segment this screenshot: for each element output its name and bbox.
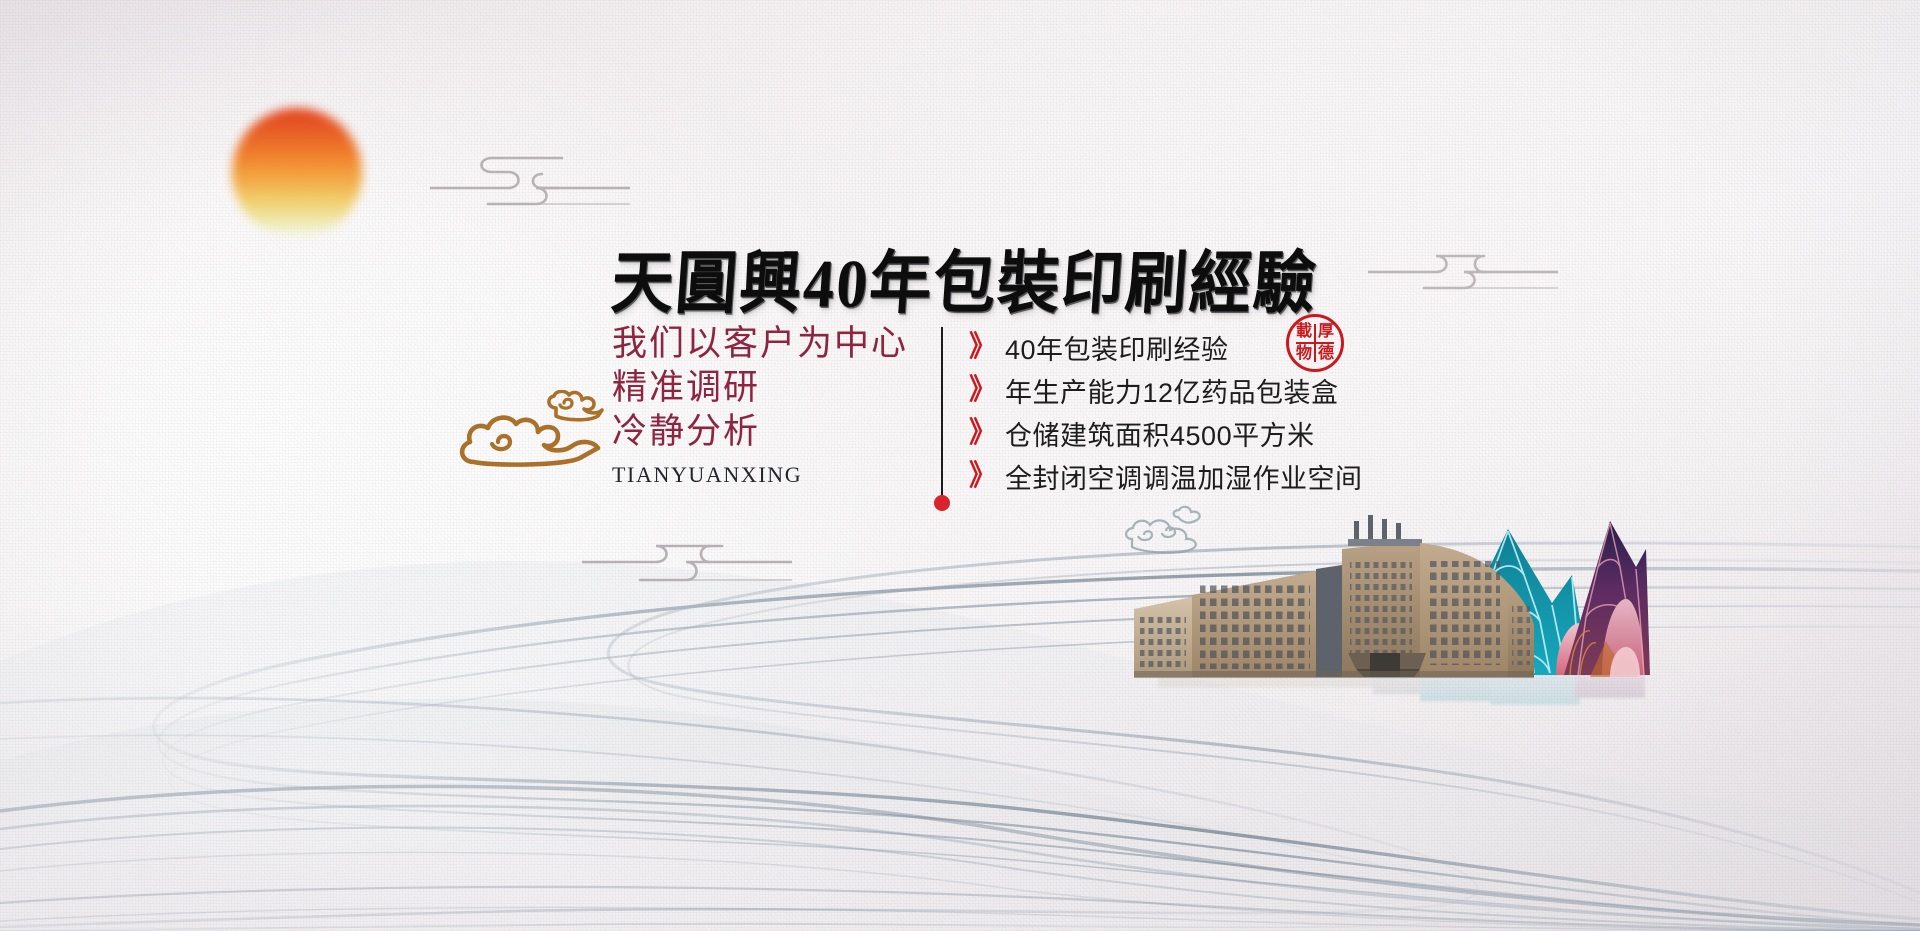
seal-char-4: 德 <box>1315 343 1337 365</box>
list-item-label: 年生产能力12亿药品包装盒 <box>1005 371 1339 410</box>
double-chevron-icon: 》 <box>969 375 996 404</box>
list-item-label: 40年包装印刷经验 <box>1005 328 1229 367</box>
promo-banner: 天圓興40年包裝印刷經驗 我们以客户为中心 精准调研 冷静分析 TIANYUAN… <box>0 0 1920 931</box>
slogan-line-1: 我们以客户为中心 <box>612 322 942 366</box>
rising-sun-icon <box>232 108 362 238</box>
slogan-block: 我们以客户为中心 精准调研 冷静分析 TIANYUANXING <box>612 322 942 488</box>
divider-dot-marker <box>934 495 950 511</box>
brand-pinyin: TIANYUANXING <box>612 462 942 488</box>
vertical-divider <box>941 327 943 501</box>
double-chevron-icon: 》 <box>969 418 996 447</box>
gold-cloud-icon <box>452 390 622 480</box>
cloud-line-icon-top-left <box>430 148 630 216</box>
seal-char-3: 物 <box>1293 343 1315 365</box>
list-item: 》 仓储建筑面积4500平方米 <box>968 412 1363 455</box>
factory-and-mountains-illustration <box>1120 505 1650 685</box>
seal-characters: 載 厚 物 德 <box>1293 321 1337 365</box>
list-item: 》 全封闭空调调温加湿作业空间 <box>968 455 1363 498</box>
cloud-line-icon-top-right <box>1368 238 1558 302</box>
red-seal-stamp-icon: 載 厚 物 德 <box>1286 314 1344 372</box>
page-title: 天圓興40年包裝印刷經驗 <box>609 228 1322 327</box>
double-chevron-icon: 》 <box>969 461 996 490</box>
grey-cloud-icon <box>1126 507 1200 553</box>
double-chevron-icon: 》 <box>969 332 996 361</box>
list-item-label: 全封闭空调调温加湿作业空间 <box>1005 457 1363 496</box>
slogan-line-3: 冷静分析 <box>612 410 942 454</box>
seal-char-1: 載 <box>1293 321 1315 343</box>
list-item-label: 仓储建筑面积4500平方米 <box>1005 414 1315 453</box>
cloud-line-icon-mid-left <box>582 528 792 594</box>
slogan-line-2: 精准调研 <box>612 366 942 410</box>
list-item: 》 年生产能力12亿药品包装盒 <box>968 369 1363 412</box>
factory-building <box>1134 515 1534 678</box>
seal-char-2: 厚 <box>1315 321 1337 343</box>
